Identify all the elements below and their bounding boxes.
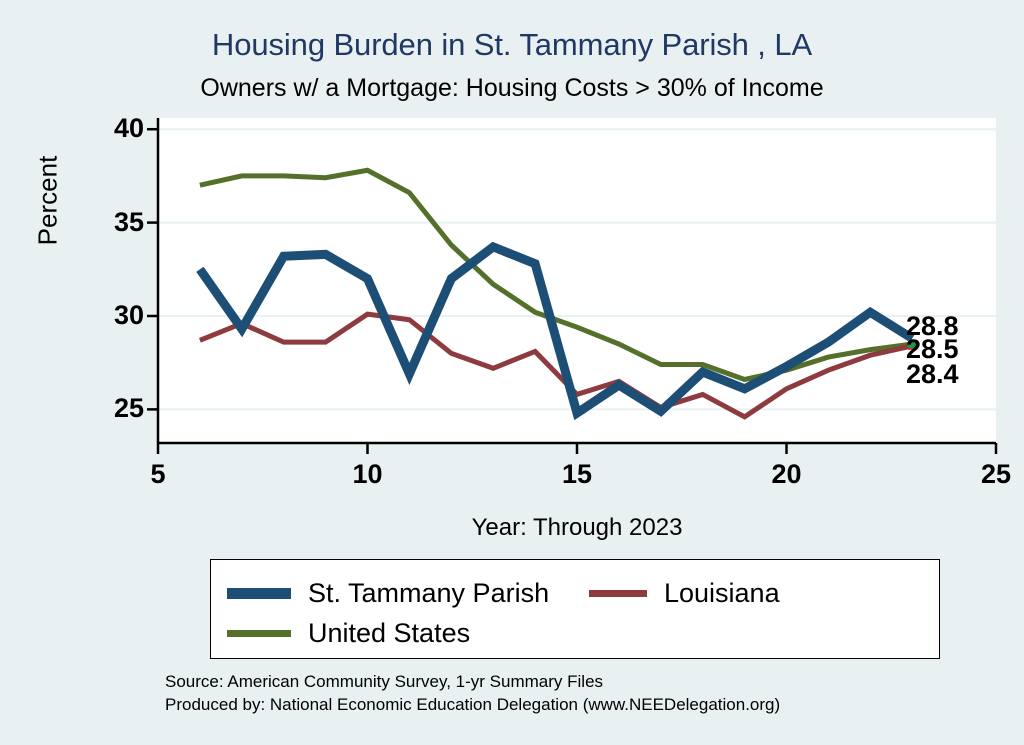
source-line-2: Produced by: National Economic Education…	[165, 694, 780, 717]
legend-swatch-st-tammany-parish	[227, 588, 291, 599]
legend-label-louisiana: Louisiana	[664, 580, 780, 607]
legend-item-louisiana[interactable]: Louisiana	[589, 580, 780, 607]
x-tick-label: 5	[128, 461, 188, 488]
y-tick-label: 30	[80, 302, 144, 329]
y-tick-label: 40	[80, 115, 144, 142]
x-tick-label: 15	[547, 461, 607, 488]
x-tick-label: 10	[338, 461, 398, 488]
legend-label-united-states: United States	[308, 620, 470, 647]
source-line-1: Source: American Community Survey, 1-yr …	[165, 671, 780, 694]
legend-swatch-louisiana	[589, 590, 647, 597]
x-tick-label: 25	[966, 461, 1024, 488]
y-tick-label: 25	[80, 395, 144, 422]
series-end-value-label: 28.4	[906, 361, 959, 388]
x-tick-label: 20	[757, 461, 817, 488]
y-tick-label: 35	[80, 209, 144, 236]
legend-swatch-united-states	[227, 630, 291, 637]
legend-item-st-tammany-parish[interactable]: St. Tammany Parish	[227, 580, 549, 607]
legend: St. Tammany Parish Louisiana United Stat…	[210, 559, 940, 659]
legend-item-united-states[interactable]: United States	[227, 620, 470, 647]
legend-label-st-tammany-parish: St. Tammany Parish	[308, 580, 549, 607]
chart-container: Housing Burden in St. Tammany Parish , L…	[0, 0, 1024, 745]
source-footer: Source: American Community Survey, 1-yr …	[165, 671, 780, 717]
